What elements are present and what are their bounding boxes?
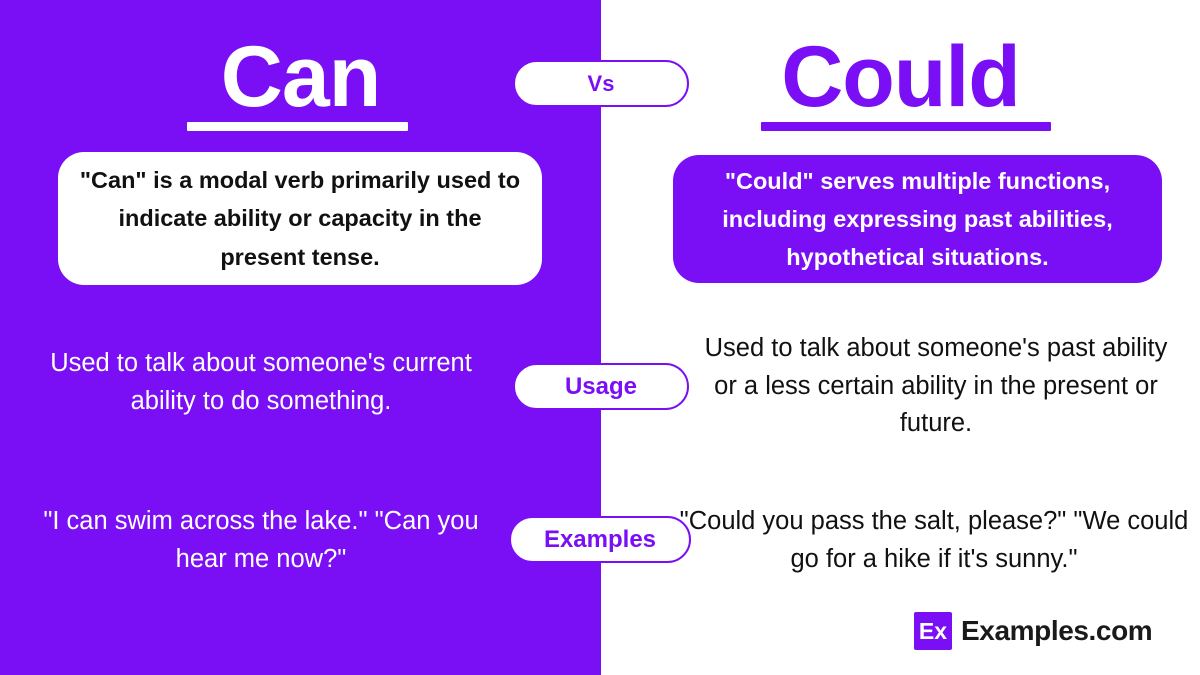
examples-logo: Ex Examples.com	[914, 612, 1152, 650]
usage-text-could: Used to talk about someone's past abilit…	[697, 330, 1175, 443]
examples-text-can: "I can swim across the lake." "Can you h…	[18, 503, 504, 578]
badge-examples: Examples	[509, 516, 691, 563]
usage-text-can: Used to talk about someone's current abi…	[18, 345, 504, 420]
title-could-underline	[761, 122, 1051, 131]
badge-vs-label: Vs	[588, 71, 615, 97]
title-could: Could	[601, 34, 1200, 120]
definition-text-can: "Can" is a modal verb primarily used to …	[74, 161, 526, 275]
title-can-underline	[187, 122, 408, 131]
badge-examples-label: Examples	[544, 526, 656, 554]
definition-text-could: "Could" serves multiple functions, inclu…	[689, 162, 1146, 276]
badge-usage-label: Usage	[565, 373, 637, 401]
badge-vs: Vs	[513, 60, 689, 107]
examples-text-could: "Could you pass the salt, please?" "We c…	[674, 503, 1194, 578]
badge-usage: Usage	[513, 363, 689, 410]
logo-mark-icon: Ex	[914, 612, 952, 650]
comparison-infographic: Can Could "Can" is a modal verb primaril…	[0, 0, 1200, 675]
title-can: Can	[0, 34, 601, 120]
logo-wordmark: Examples.com	[961, 615, 1152, 647]
definition-card-could: "Could" serves multiple functions, inclu…	[673, 155, 1162, 283]
definition-card-can: "Can" is a modal verb primarily used to …	[58, 152, 542, 285]
